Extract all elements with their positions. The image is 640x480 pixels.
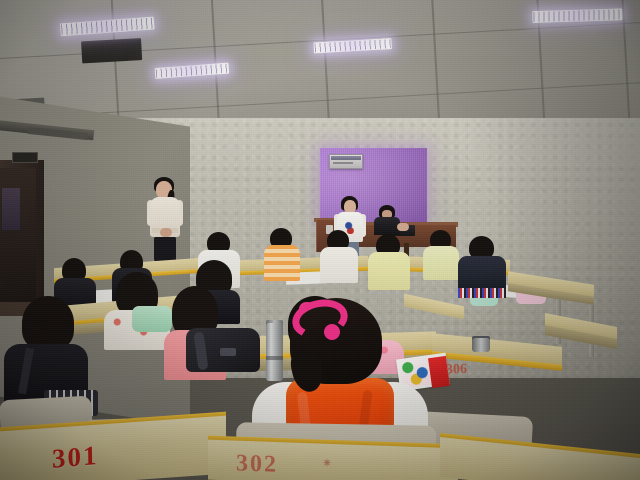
ceiling-vent-left — [81, 38, 142, 63]
projected-dialog-box — [329, 154, 363, 169]
classroom-photo: 306 301 302 ✷ — [0, 0, 640, 480]
ceiling-light-1 — [60, 17, 155, 37]
door-poster — [2, 188, 20, 230]
projected-dialog-titlebar — [331, 156, 361, 160]
desk-number-302: 302 — [236, 450, 326, 480]
operator-arm — [397, 223, 409, 231]
student-yellow-shirt-a-torso — [368, 252, 410, 290]
standing-woman-legs — [154, 236, 176, 262]
travel-mug — [472, 338, 490, 352]
ceiling-light-5 — [532, 8, 622, 23]
presenter-shirt-graphic — [345, 221, 354, 234]
desk-number-306: 306 — [446, 361, 483, 380]
student-orange-stripe-torso — [264, 245, 300, 281]
thermos — [266, 323, 283, 381]
student-black-top-left-head — [22, 296, 74, 350]
student-yellow-shirt-b-torso — [423, 246, 459, 280]
projected-dialog-text — [333, 162, 353, 164]
door-sign — [12, 152, 38, 163]
backpack-buckle — [220, 348, 236, 356]
desk-star-mark: ✷ — [322, 456, 334, 468]
student-navy-patterned-band — [458, 288, 506, 298]
standing-woman-hands — [160, 228, 172, 237]
thermos-ring — [266, 356, 283, 360]
mint-pouch-left — [132, 306, 172, 332]
pink-hair-tie-knot — [324, 324, 340, 340]
ceiling-light-2 — [155, 63, 230, 79]
student-white-shirt-b-torso — [320, 247, 358, 283]
